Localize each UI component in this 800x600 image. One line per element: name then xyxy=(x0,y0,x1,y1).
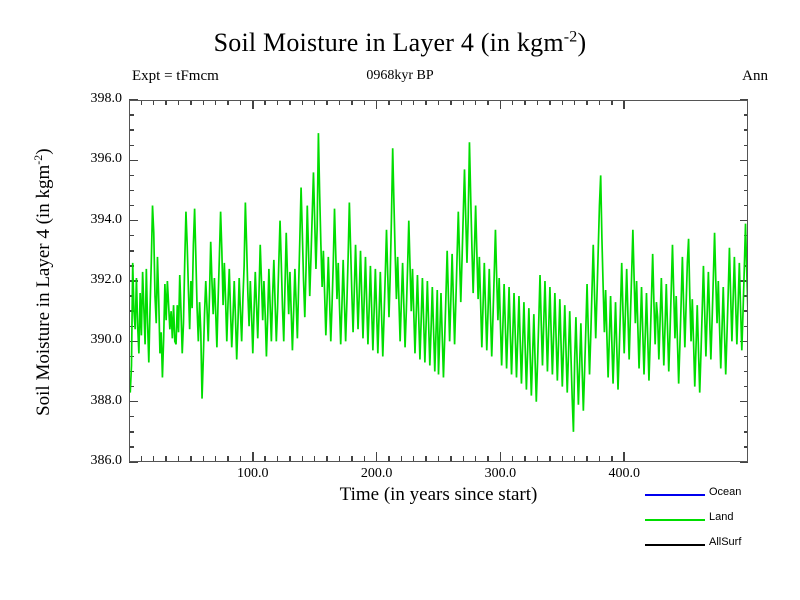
y-tick-label: 388.0 xyxy=(68,393,122,409)
plot-frame xyxy=(129,100,748,462)
y-tick-label: 392.0 xyxy=(68,272,122,288)
chart-title-tail: ) xyxy=(578,28,587,57)
legend-label: AllSurf xyxy=(709,536,741,548)
y-tick-label: 394.0 xyxy=(68,212,122,228)
x-tick-label: 400.0 xyxy=(584,466,664,482)
x-tick-label: 300.0 xyxy=(460,466,540,482)
legend-swatch-allsurf xyxy=(645,544,705,546)
legend-label: Ocean xyxy=(709,486,741,498)
y-axis-label-wrap: Soil Moisture in Layer 4 (in kgm-2) xyxy=(0,0,129,600)
legend-label: Land xyxy=(709,511,733,523)
legend-swatch-land xyxy=(645,519,705,521)
legend-item-land[interactable]: Land xyxy=(645,509,795,534)
chart-title-text: Soil Moisture in Layer 4 (in kgm xyxy=(214,28,564,57)
experiment-label: Expt = tFmcm xyxy=(132,68,219,85)
legend-swatch-ocean xyxy=(645,494,705,496)
y-tick-label: 386.0 xyxy=(68,453,122,469)
y-axis-title-tail: ) xyxy=(33,148,54,154)
chart-title-superscript: -2 xyxy=(564,28,578,45)
legend-item-ocean[interactable]: Ocean xyxy=(645,484,795,509)
y-tick-label: 390.0 xyxy=(68,332,122,348)
y-axis-title: Soil Moisture in Layer 4 (in kgm-2) xyxy=(31,117,55,447)
y-axis-title-superscript: -2 xyxy=(31,155,45,165)
legend: OceanLandAllSurf xyxy=(645,484,795,559)
period-label: Ann xyxy=(742,68,768,85)
chart-canvas: Soil Moisture in Layer 4 (in kgm-2) 0968… xyxy=(0,0,800,600)
legend-item-allsurf[interactable]: AllSurf xyxy=(645,534,795,559)
x-tick-label: 200.0 xyxy=(337,466,417,482)
y-tick-label: 396.0 xyxy=(68,151,122,167)
y-axis-title-text: Soil Moisture in Layer 4 (in kgm xyxy=(33,165,54,416)
x-tick-label: 100.0 xyxy=(213,466,293,482)
y-tick-label: 398.0 xyxy=(68,91,122,107)
